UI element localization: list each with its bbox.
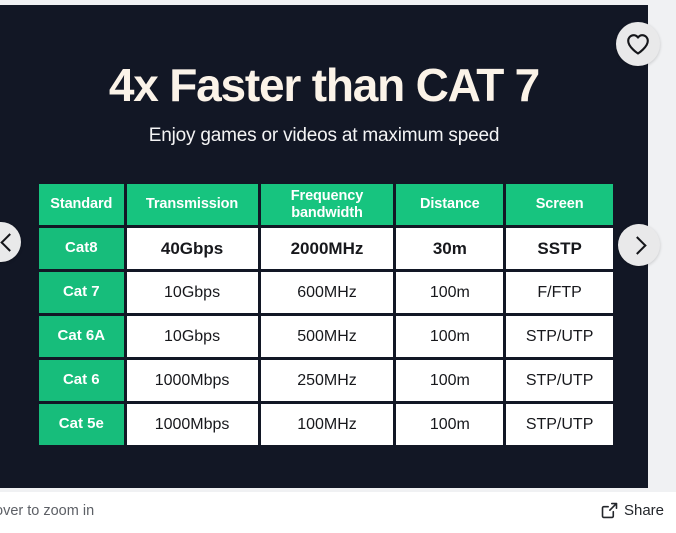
product-infographic-banner: 4x Faster than CAT 7 Enjoy games or vide… (0, 5, 648, 488)
cable-spec-comparison-table: Standard Transmission Frequency bandwidt… (36, 181, 616, 448)
hero-title: 4x Faster than CAT 7 (0, 5, 648, 108)
column-header-screen: Screen (506, 184, 613, 225)
cell-distance: 100m (396, 360, 503, 401)
chevron-left-icon (0, 233, 18, 251)
table-row: Cat 7 10Gbps 600MHz 100m F/FTP (39, 272, 613, 313)
cell-frequency: 250MHz (261, 360, 394, 401)
cell-frequency: 100MHz (261, 404, 394, 445)
share-label: Share (624, 502, 664, 519)
gallery-bottom-bar: Roll over to zoom in Share (0, 492, 676, 533)
cell-transmission: 10Gbps (127, 272, 258, 313)
cell-transmission: 1000Mbps (127, 360, 258, 401)
cell-standard: Cat 5e (39, 404, 124, 445)
table-header-row: Standard Transmission Frequency bandwidt… (39, 184, 613, 225)
cell-screen: STP/UTP (506, 404, 613, 445)
cell-screen: STP/UTP (506, 316, 613, 357)
cell-screen: STP/UTP (506, 360, 613, 401)
hero-text-block: 4x Faster than CAT 7 Enjoy games or vide… (0, 5, 648, 147)
cell-frequency: 2000MHz (261, 228, 394, 269)
cell-distance: 100m (396, 404, 503, 445)
favorite-button[interactable] (616, 22, 660, 66)
cell-distance: 100m (396, 316, 503, 357)
table-row: Cat 6A 10Gbps 500MHz 100m STP/UTP (39, 316, 613, 357)
column-header-frequency-bandwidth: Frequency bandwidth (261, 184, 394, 225)
product-image-gallery[interactable]: 4x Faster than CAT 7 Enjoy games or vide… (0, 0, 676, 492)
gallery-next-button[interactable] (618, 224, 660, 266)
cell-standard: Cat8 (39, 228, 124, 269)
cell-standard: Cat 6 (39, 360, 124, 401)
cell-frequency: 600MHz (261, 272, 394, 313)
cell-distance: 30m (396, 228, 503, 269)
heart-icon (626, 33, 650, 55)
cell-transmission: 1000Mbps (127, 404, 258, 445)
cell-distance: 100m (396, 272, 503, 313)
cell-screen: SSTP (506, 228, 613, 269)
hero-subtitle: Enjoy games or videos at maximum speed (0, 108, 648, 147)
cell-frequency: 500MHz (261, 316, 394, 357)
zoom-hint-label: Roll over to zoom in (0, 503, 94, 519)
share-button[interactable]: Share (601, 502, 664, 519)
table-row: Cat 5e 1000Mbps 100MHz 100m STP/UTP (39, 404, 613, 445)
share-box-arrow-icon (601, 502, 618, 519)
chevron-right-icon (628, 236, 646, 254)
cell-screen: F/FTP (506, 272, 613, 313)
table-row: Cat8 40Gbps 2000MHz 30m SSTP (39, 228, 613, 269)
table-row: Cat 6 1000Mbps 250MHz 100m STP/UTP (39, 360, 613, 401)
cell-standard: Cat 6A (39, 316, 124, 357)
cell-transmission: 10Gbps (127, 316, 258, 357)
column-header-distance: Distance (396, 184, 503, 225)
column-header-standard: Standard (39, 184, 124, 225)
cell-standard: Cat 7 (39, 272, 124, 313)
cell-transmission: 40Gbps (127, 228, 258, 269)
column-header-transmission: Transmission (127, 184, 258, 225)
